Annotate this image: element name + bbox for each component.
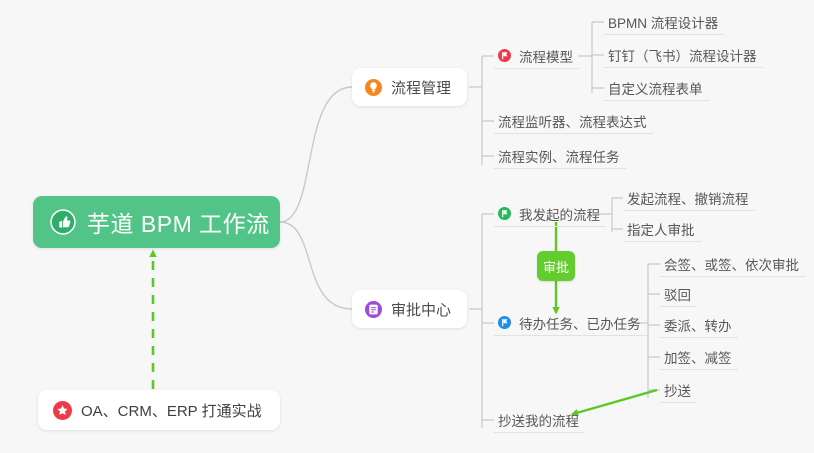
item-label: 流程监听器、流程表达式: [498, 111, 647, 131]
mindmap-canvas: 芋道 BPM 工作流 流程管理 流程模型 BPMN 流程设计器 钉钉（飞书）流程…: [0, 0, 814, 453]
callout-node-integration[interactable]: OA、CRM、ERP 打通实战: [38, 390, 280, 430]
flag-icon: [498, 49, 511, 62]
branch-node-label: 审批中心: [391, 299, 451, 320]
item-label: 指定人审批: [627, 219, 695, 239]
item-reject[interactable]: 驳回: [660, 281, 697, 307]
item-label: 抄送我的流程: [498, 410, 579, 430]
root-node[interactable]: 芋道 BPM 工作流: [33, 196, 280, 248]
item-label: 抄送: [664, 380, 691, 400]
item-label: 加签、减签: [664, 347, 732, 367]
item-label: 待办任务、已办任务: [519, 313, 641, 333]
item-label: 自定义流程表单: [608, 78, 703, 98]
item-label: 委派、转办: [664, 315, 732, 335]
item-custom-form[interactable]: 自定义流程表单: [604, 75, 709, 101]
item-carbon-copy[interactable]: 抄送: [660, 377, 697, 403]
item-label: 流程模型: [519, 46, 573, 66]
item-dingtalk-designer[interactable]: 钉钉（飞书）流程设计器: [604, 42, 763, 68]
star-icon: [53, 401, 72, 420]
approval-flow-badge-label: 审批: [543, 257, 569, 276]
item-assignee-approval[interactable]: 指定人审批: [623, 216, 701, 242]
connector-root-to-approval-center: [280, 222, 352, 309]
lightbulb-icon: [365, 79, 382, 96]
item-label: 发起流程、撤销流程: [627, 188, 749, 208]
item-process-model[interactable]: 流程模型: [494, 43, 579, 69]
approval-flow-badge: 审批: [537, 251, 575, 281]
connector-root-to-process-mgmt: [280, 87, 352, 222]
item-cc-to-me-process[interactable]: 抄送我的流程: [494, 407, 585, 433]
item-my-initiated-process[interactable]: 我发起的流程: [494, 201, 606, 227]
callout-node-label: OA、CRM、ERP 打通实战: [81, 400, 262, 421]
document-icon: [365, 301, 382, 318]
flag-icon: [498, 207, 511, 220]
item-bpmn-designer[interactable]: BPMN 流程设计器: [604, 9, 724, 35]
item-countersign[interactable]: 会签、或签、依次审批: [660, 251, 805, 277]
item-label: 流程实例、流程任务: [498, 146, 620, 166]
thumbs-up-icon: [50, 209, 76, 235]
item-todo-done-tasks[interactable]: 待办任务、已办任务: [494, 310, 647, 336]
connector-bracket-approval-center: [469, 214, 494, 428]
item-add-remove-sign[interactable]: 加签、减签: [660, 344, 738, 370]
item-process-listener[interactable]: 流程监听器、流程表达式: [494, 108, 653, 134]
cc-arrow: [573, 390, 657, 414]
item-label: 驳回: [664, 284, 691, 304]
item-label: 会签、或签、依次审批: [664, 254, 799, 274]
connector-bracket-process-mgmt: [469, 56, 494, 165]
flag-icon: [498, 316, 511, 329]
branch-node-process-management[interactable]: 流程管理: [352, 68, 467, 106]
item-label: BPMN 流程设计器: [608, 12, 718, 32]
item-label: 我发起的流程: [519, 204, 600, 224]
item-delegate-transfer[interactable]: 委派、转办: [660, 312, 738, 338]
branch-node-approval-center[interactable]: 审批中心: [352, 290, 467, 328]
item-start-cancel-process[interactable]: 发起流程、撤销流程: [623, 185, 755, 211]
connector-bracket-process-model: [578, 22, 604, 93]
root-node-label: 芋道 BPM 工作流: [87, 205, 270, 239]
branch-node-label: 流程管理: [391, 77, 451, 98]
item-process-instance[interactable]: 流程实例、流程任务: [494, 143, 626, 169]
item-label: 钉钉（飞书）流程设计器: [608, 45, 757, 65]
